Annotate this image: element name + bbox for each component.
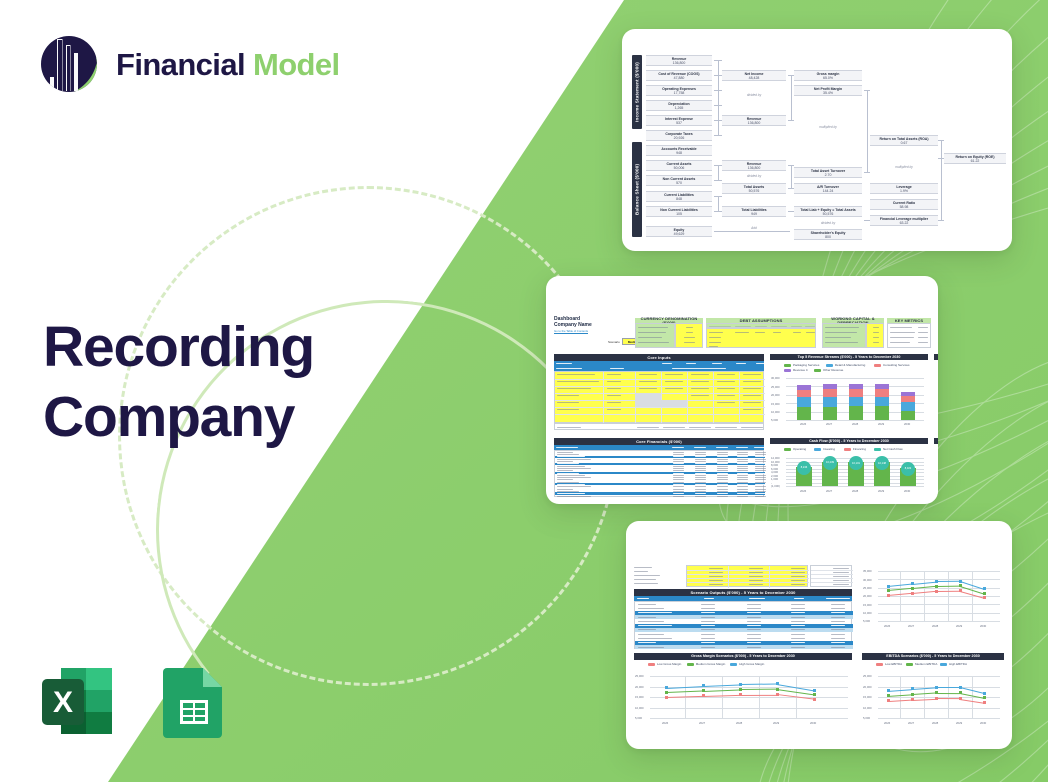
table-cell <box>755 486 766 487</box>
scenario-trend-chart: 5,00010,00015,00020,00025,00030,00035,00… <box>862 563 1004 639</box>
x-tick-label: 2029 <box>878 422 884 426</box>
x-tick-label: 2028 <box>932 721 938 725</box>
table-cell <box>717 466 728 467</box>
y-tick-label: 25,000 <box>771 385 780 389</box>
table-row-label <box>638 608 664 609</box>
y-tick-label: 12,000 <box>771 456 780 460</box>
cash-flow-chart: OperatingInvestingFinancingNet Cash Flow… <box>770 444 928 500</box>
dupont-node: Interest Expense 537 <box>646 115 712 126</box>
table-cell <box>673 477 684 478</box>
legend-swatch <box>730 663 737 666</box>
y-tick-label: 10,000 <box>771 460 780 464</box>
y-tick-label: 20,000 <box>863 685 872 689</box>
data-label-pill: 8,246 <box>797 461 811 475</box>
bar-segment <box>901 402 915 411</box>
table-cell <box>755 466 766 467</box>
y-tick-label: 30,000 <box>771 376 780 380</box>
table-row-label <box>638 634 664 635</box>
scenario-outputs-title: Scenario Outputs ($'000) - 5 Years to De… <box>634 589 852 596</box>
poster-canvas: Financial Model Recording Company X <box>0 0 1048 782</box>
dupont-operator: divided by <box>722 174 786 178</box>
table-cell <box>673 473 684 474</box>
data-point <box>983 592 986 595</box>
table-cell <box>737 459 748 460</box>
bar-segment <box>797 407 811 420</box>
table-cell <box>755 468 766 469</box>
y-tick-label: 25,000 <box>863 674 872 678</box>
table-row-label <box>557 489 573 490</box>
table-cell <box>737 479 748 480</box>
bar-segment <box>823 384 837 389</box>
dupont-node: Current Liabilities 848 <box>646 191 712 202</box>
table-cell <box>737 489 748 490</box>
table-cell <box>737 452 748 453</box>
data-label-pill: 10,239 <box>823 456 837 470</box>
table-cell <box>737 496 748 497</box>
core-inputs-total-row <box>554 423 764 430</box>
table-cell <box>673 493 684 494</box>
key-metrics-values <box>887 323 931 348</box>
x-tick-label: 2027 <box>908 721 914 725</box>
table-cell <box>737 486 748 487</box>
dupont-operator: Add <box>722 226 786 230</box>
brand-name-part2: Model <box>253 47 340 82</box>
legend-swatch <box>876 663 883 666</box>
table-cell <box>755 475 766 476</box>
dupont-operator: multiplied by <box>794 125 862 129</box>
y-tick-label: (1,000) <box>771 484 780 488</box>
table-row-highlight <box>555 456 765 458</box>
legend-swatch <box>784 364 791 367</box>
dupont-node: Gross margin 65.0% <box>794 70 862 81</box>
x-tick-label: 2026 <box>800 489 806 493</box>
table-row-highlight <box>555 472 765 474</box>
table-row-label <box>557 477 591 478</box>
legend-label: High EBITDA <box>949 662 967 666</box>
line-segment <box>912 698 936 700</box>
dashboard-header: Dashboard Company Name Go to the Table o… <box>554 316 592 333</box>
table-row-subhighlight <box>635 628 853 632</box>
table-cell <box>747 617 761 618</box>
table-cell <box>701 604 715 605</box>
table-cell <box>747 621 761 622</box>
table-cell <box>755 459 766 460</box>
legend-swatch <box>874 364 881 367</box>
dupont-node: A/R Turnover 144.24 <box>794 183 862 194</box>
x-tick-label: 2030 <box>904 422 910 426</box>
table-cell <box>695 459 706 460</box>
y-tick-label: 5,000 <box>771 418 778 422</box>
table-cell <box>701 612 715 613</box>
table-cell <box>717 496 728 497</box>
table-cell <box>717 477 728 478</box>
x-tick-label: 2029 <box>956 624 962 628</box>
page-title-line2: Company <box>43 382 314 452</box>
investment-payback-chart: Payback yearCumulative Cash Generated (l… <box>934 444 938 500</box>
dupont-node: Equity 49,629 <box>646 226 712 237</box>
table-cell <box>747 612 761 613</box>
debt-values[interactable] <box>706 328 816 348</box>
data-point <box>813 698 816 701</box>
table-cell <box>791 625 805 626</box>
table-cell <box>831 638 845 639</box>
table-row-label <box>638 604 656 605</box>
x-tick-label: 2030 <box>980 721 986 725</box>
table-cell <box>695 489 706 490</box>
dupont-node: Cost of Revenue (COGS) 47,880 <box>646 70 712 81</box>
line-segment <box>740 694 777 695</box>
x-tick-label: 2027 <box>908 624 914 628</box>
scenario-canvas: Scenario Outputs ($'000) - 5 Years to De… <box>626 521 1012 749</box>
scenario-label: Scenario <box>608 340 620 344</box>
dupont-node: Net Income 48,428 <box>722 70 786 81</box>
y-tick-label: 25,000 <box>635 674 644 678</box>
table-cell <box>717 489 728 490</box>
table-row-label <box>557 484 585 485</box>
table-row-label <box>638 638 672 639</box>
x-tick-label: 2027 <box>826 422 832 426</box>
legend-swatch <box>814 448 821 451</box>
table-cell <box>717 493 728 494</box>
dupont-node: Return on Total Assets (ROA) 0.67 <box>870 135 938 146</box>
table-cell <box>791 621 805 622</box>
dupont-node: Non Current Liabilities 105 <box>646 206 712 217</box>
y-tick-label: - <box>771 481 772 485</box>
dashboard-toc-link[interactable]: Go to the Table of Contents <box>554 329 592 333</box>
table-cell <box>747 647 761 648</box>
legend-label: Revenue 4 <box>793 368 808 372</box>
legend-label: Other Revenue <box>823 368 843 372</box>
legend-label: Packaging Services <box>793 363 819 367</box>
bar-segment <box>875 406 889 420</box>
data-label-pill: 8,022 <box>901 462 915 476</box>
table-cell <box>673 452 684 453</box>
table-cell <box>673 479 684 480</box>
x-tick-label: 2026 <box>662 721 668 725</box>
table-cell <box>791 617 805 618</box>
brand-logo: Financial Model <box>38 33 340 95</box>
legend-swatch <box>826 364 833 367</box>
table-cell <box>831 617 845 618</box>
table-cell <box>737 484 748 485</box>
x-tick-label: 2030 <box>980 624 986 628</box>
bar-segment <box>823 407 837 420</box>
y-tick-label: 10,000 <box>635 706 644 710</box>
table-cell <box>737 477 748 478</box>
y-tick-label: 20,000 <box>635 685 644 689</box>
table-cell <box>673 466 684 467</box>
dupont-node: Accounts Receivable 948 <box>646 145 712 156</box>
y-tick-label: 20,000 <box>863 594 872 598</box>
y-tick-label: 4,000 <box>771 470 778 474</box>
bar-segment <box>875 397 889 407</box>
legend-label: Medium EBITDA <box>915 662 937 666</box>
core-financials-data <box>554 450 764 497</box>
table-cell <box>701 617 715 618</box>
dupont-node: Total Asset Turnover 2.70 <box>794 167 862 178</box>
y-tick-label: 5,000 <box>635 716 642 720</box>
table-cell <box>755 452 766 453</box>
table-cell <box>695 493 706 494</box>
y-tick-label: 10,000 <box>771 410 780 414</box>
google-sheets-icon[interactable] <box>150 662 232 744</box>
dashboard-title-line2: Company Name <box>554 322 592 328</box>
dupont-operator: divided by <box>794 221 862 225</box>
table-cell <box>701 634 715 635</box>
table-cell <box>791 647 805 648</box>
gross-margin-scenarios-chart: Low Gross MarginMedium Gross MarginHigh … <box>634 660 852 736</box>
table-row-label <box>557 468 591 469</box>
y-tick-label: 15,000 <box>863 695 872 699</box>
table-cell <box>831 608 845 609</box>
table-cell <box>791 604 805 605</box>
table-row-label <box>557 496 591 497</box>
table-cell <box>755 496 766 497</box>
legend-label: Financing <box>853 447 866 451</box>
table-cell <box>695 479 706 480</box>
table-row-label <box>638 621 664 622</box>
table-cell <box>701 625 715 626</box>
dupont-node: Revenue 136,800 <box>646 55 712 66</box>
dupont-node: Total Liabilities 949 <box>722 206 786 217</box>
financial-dashboard-screenshot[interactable]: Dashboard Company Name Go to the Table o… <box>546 276 938 504</box>
table-cell <box>747 608 761 609</box>
core-financials-title: Core Financials ($'000) <box>554 438 764 445</box>
bar-segment <box>849 389 863 397</box>
table-cell <box>701 608 715 609</box>
table-row-label <box>557 486 591 487</box>
legend-label: High Gross Margin <box>739 662 764 666</box>
dupont-operator: divided by <box>722 93 786 97</box>
bar-segment <box>823 389 837 397</box>
table-cell <box>695 486 706 487</box>
x-tick-label: 2027 <box>826 489 832 493</box>
bar-segment <box>901 411 915 420</box>
table-cell <box>755 493 766 494</box>
table-cell <box>737 473 748 474</box>
wc-values[interactable] <box>866 323 884 348</box>
dupont-node: Revenue 136,800 <box>722 115 786 126</box>
table-row-label <box>557 479 573 480</box>
table-cell <box>695 484 706 485</box>
data-point <box>983 692 986 695</box>
legend-swatch <box>844 448 851 451</box>
financial-model-logo-icon <box>38 33 100 95</box>
bar-segment <box>875 389 889 397</box>
table-cell <box>831 647 845 648</box>
table-row-subhighlight <box>635 615 853 619</box>
data-point <box>983 587 986 590</box>
brand-name-part1: Financial <box>116 47 245 82</box>
table-cell <box>737 466 748 467</box>
x-tick-label: 2029 <box>773 721 779 725</box>
balance-sheet-band: Balance Sheet ($'000) <box>632 142 642 237</box>
scenario-active-values <box>810 565 852 587</box>
table-cell <box>791 612 805 613</box>
legend-swatch <box>940 663 947 666</box>
y-tick-label: 5,000 <box>863 619 870 623</box>
dashboard-canvas: Dashboard Company Name Go to the Table o… <box>546 276 938 504</box>
bar-segment <box>875 384 889 389</box>
core-inputs-title: Core Inputs <box>554 354 764 361</box>
ebitda-scenarios-chart-title: EBITDA Scenarios ($'000) - 5 Years to De… <box>862 653 1004 660</box>
line-segment <box>936 693 960 694</box>
y-tick-label: 8,000 <box>771 463 778 467</box>
legend-label: Operating <box>793 447 806 451</box>
table-cell <box>717 452 728 453</box>
core-inputs-data[interactable] <box>554 371 764 423</box>
table-cell <box>717 459 728 460</box>
dupont-node: Shareholder's Equity 800 <box>794 229 862 240</box>
dupont-node: Operating Expenses 17,758 <box>646 85 712 96</box>
table-cell <box>755 489 766 490</box>
currency-values[interactable] <box>675 323 703 348</box>
x-tick-label: 2028 <box>852 489 858 493</box>
dupont-node: Depreciation 1,265 <box>646 100 712 111</box>
legend-swatch <box>874 448 881 451</box>
data-point <box>813 693 816 696</box>
y-tick-label: 25,000 <box>863 586 872 590</box>
table-row-highlight <box>555 492 765 494</box>
bar-segment <box>849 384 863 389</box>
dupont-node: Non Current Assets 570 <box>646 175 712 186</box>
table-row-label <box>638 647 664 648</box>
currency-labels <box>635 323 675 348</box>
table-cell <box>695 496 706 497</box>
dupont-node: Revenue 136,800 <box>722 160 786 171</box>
wc-labels <box>822 323 866 348</box>
x-tick-label: 2026 <box>884 624 890 628</box>
bar-segment <box>797 385 811 390</box>
table-cell <box>717 473 728 474</box>
table-cell <box>717 479 728 480</box>
microsoft-excel-icon[interactable]: X <box>36 662 118 744</box>
table-cell <box>755 484 766 485</box>
data-point <box>813 689 816 692</box>
x-tick-label: 2028 <box>852 422 858 426</box>
table-cell <box>695 475 706 476</box>
table-cell <box>755 479 766 480</box>
legend-swatch <box>687 663 694 666</box>
table-cell <box>717 468 728 469</box>
legend-swatch <box>784 369 791 372</box>
table-cell <box>747 638 761 639</box>
dupont-node: Corporate Taxes 20,926 <box>646 130 712 141</box>
table-cell <box>701 638 715 639</box>
legend-label: Investing <box>823 447 835 451</box>
bar-segment <box>797 397 811 407</box>
table-row-label <box>557 452 573 453</box>
dupont-node: Leverage 1.9% <box>870 183 938 194</box>
table-cell <box>791 634 805 635</box>
bar-segment <box>901 392 915 396</box>
table-cell <box>701 621 715 622</box>
x-tick-label: 2030 <box>810 721 816 725</box>
scenario-assumption-labels <box>634 565 684 587</box>
x-tick-label: 2026 <box>884 721 890 725</box>
table-row-label <box>638 617 656 618</box>
scenario-analysis-screenshot[interactable]: Scenario Outputs ($'000) - 5 Years to De… <box>626 521 1012 749</box>
legend-label: Consulting Services <box>883 363 910 367</box>
table-cell <box>673 489 684 490</box>
gross-margin-scenarios-chart-title: Gross Margin Scenarios ($'000) - 5 Years… <box>634 653 852 660</box>
table-cell <box>673 459 684 460</box>
x-tick-label: 2030 <box>904 489 910 493</box>
legend-swatch <box>906 663 913 666</box>
table-cell <box>831 625 845 626</box>
dupont-node: Total Assets 50,576 <box>722 183 786 194</box>
file-format-icons: X <box>36 662 232 744</box>
line-segment <box>936 687 960 688</box>
dupont-node: Net Profit Margin 35.4% <box>794 85 862 96</box>
top-5-revenue-streams-chart: Packaging ServicesRetail & Manufacturing… <box>770 360 928 432</box>
y-tick-label: 20,000 <box>771 393 780 397</box>
table-row-subhighlight <box>635 645 853 649</box>
table-cell <box>673 486 684 487</box>
table-cell <box>673 484 684 485</box>
data-point <box>983 701 986 704</box>
legend-swatch <box>784 448 791 451</box>
page-title: Recording Company <box>43 312 314 452</box>
table-row-label <box>638 612 672 613</box>
table-cell <box>695 477 706 478</box>
legend-label: Retail & Manufacturing <box>835 363 865 367</box>
bar-segment <box>849 397 863 407</box>
y-tick-label: 5,000 <box>863 716 870 720</box>
x-tick-label: 2029 <box>956 721 962 725</box>
brand-wordmark: Financial Model <box>116 49 340 80</box>
table-row-label <box>557 493 585 494</box>
bar-segment <box>823 397 837 407</box>
x-tick-label: 2028 <box>932 624 938 628</box>
legend-swatch <box>814 369 821 372</box>
x-tick-label: 2028 <box>736 721 742 725</box>
x-tick-label: 2026 <box>800 422 806 426</box>
table-cell <box>831 612 845 613</box>
table-cell <box>747 604 761 605</box>
table-row-label <box>557 475 585 476</box>
profitability-chart: RevenueEBITDAEBITDA %60.1%62.5%63.2%62.8… <box>934 360 938 432</box>
table-cell <box>717 486 728 487</box>
dupont-analysis-screenshot[interactable]: Income Statement ($'000) Balance Sheet (… <box>622 29 1012 251</box>
data-point <box>983 696 986 699</box>
y-tick-label: 15,000 <box>863 603 872 607</box>
dupont-operator: multiplied by <box>870 165 938 169</box>
table-cell <box>737 493 748 494</box>
table-cell <box>747 634 761 635</box>
legend-swatch <box>648 663 655 666</box>
y-tick-label: 6,000 <box>771 467 778 471</box>
income-statement-band: Income Statement ($'000) <box>632 55 642 129</box>
scenario-assumption-values[interactable] <box>686 565 808 587</box>
table-cell <box>737 468 748 469</box>
y-tick-label: 10,000 <box>863 706 872 710</box>
dupont-node: Total Liab + Equity = Total Assets 50,57… <box>794 206 862 217</box>
table-cell <box>831 621 845 622</box>
table-row-highlight <box>555 463 765 465</box>
dupont-node: Current Assets 50,006 <box>646 160 712 171</box>
table-row-label <box>638 625 672 626</box>
table-cell <box>717 484 728 485</box>
table-cell <box>791 638 805 639</box>
table-cell <box>717 475 728 476</box>
table-cell <box>695 466 706 467</box>
table-row-label <box>557 466 585 467</box>
y-tick-label: 30,000 <box>863 578 872 582</box>
table-cell <box>791 608 805 609</box>
legend-label: Medium Gross Margin <box>696 662 726 666</box>
table-cell <box>831 604 845 605</box>
